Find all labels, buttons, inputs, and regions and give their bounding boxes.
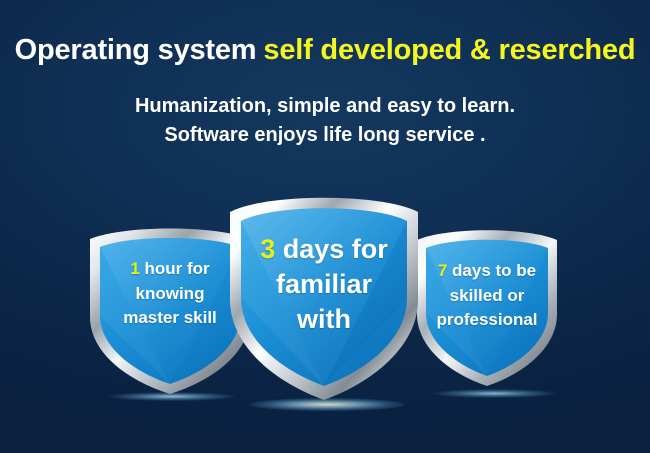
shield-icon-right	[412, 223, 562, 389]
shield-glow-right	[432, 389, 556, 398]
shield-icon-center	[224, 188, 424, 406]
shield-badge-center[interactable]: 3 days for familiar with	[224, 188, 424, 406]
shield-badge-right[interactable]: 7 days to be skilled or professional	[412, 223, 562, 389]
shield-group: 1 hour for knowing master skill	[0, 0, 650, 453]
promo-banner: Operating systemself developed & reserch…	[0, 0, 650, 453]
